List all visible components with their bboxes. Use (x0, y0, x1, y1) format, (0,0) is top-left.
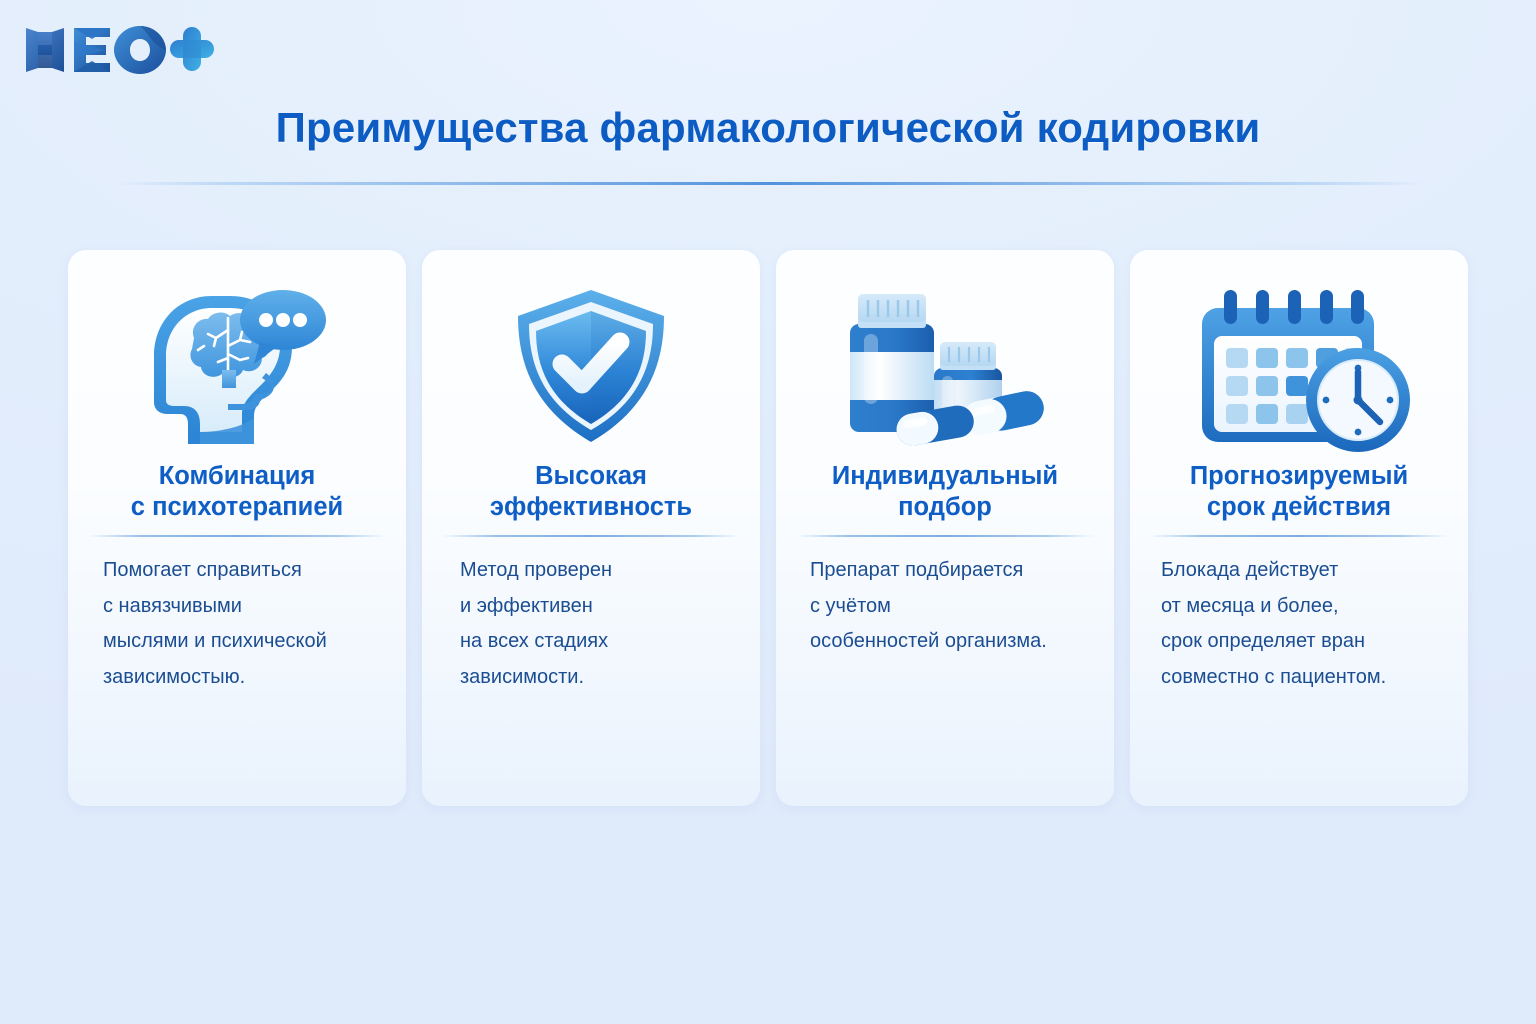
logo-neo-plus-icon (18, 18, 218, 80)
card-title: Индивидуальный подбор (832, 461, 1058, 523)
title-divider (115, 182, 1425, 185)
benefit-card[interactable]: Комбинация с психотерапией Помогает спра… (68, 250, 406, 806)
card-divider (88, 535, 386, 537)
card-body: Препарат подбирается с учётом особенност… (782, 553, 1108, 660)
brand-logo (18, 18, 218, 80)
pill-bottles-capsules-icon (834, 284, 1056, 452)
benefit-card[interactable]: Индивидуальный подбор Препарат подбирает… (776, 250, 1114, 806)
head-brain-speech-bubble-icon (142, 284, 332, 452)
calendar-clock-icon (1188, 284, 1410, 452)
card-divider (442, 535, 740, 537)
card-title: Комбинация с психотерапией (131, 461, 343, 523)
infographic-stage: Преимущества фармакологической кодировки (0, 0, 1536, 1024)
card-divider (1150, 535, 1448, 537)
card-icon-slot (88, 280, 386, 455)
card-body: Помогает справиться с навязчивыми мыслям… (73, 553, 401, 695)
card-body: Блокада действует от месяца и более, сро… (1139, 553, 1459, 695)
card-title: Прогнозируемый срок действия (1190, 461, 1408, 523)
benefit-card[interactable]: Прогнозируемый срок действия Блокада дей… (1130, 250, 1468, 806)
card-title: Высокая эффективность (490, 461, 692, 523)
shield-check-icon (506, 284, 676, 452)
card-icon-slot (796, 280, 1094, 455)
card-body: Метод проверен и эффективен на всех стад… (424, 553, 758, 695)
benefit-card[interactable]: Высокая эффективность Метод проверен и э… (422, 250, 760, 806)
card-divider (796, 535, 1094, 537)
page-title: Преимущества фармакологической кодировки (0, 104, 1536, 152)
card-icon-slot (442, 280, 740, 455)
card-icon-slot (1150, 280, 1448, 455)
benefit-card-list: Комбинация с психотерапией Помогает спра… (68, 250, 1468, 806)
